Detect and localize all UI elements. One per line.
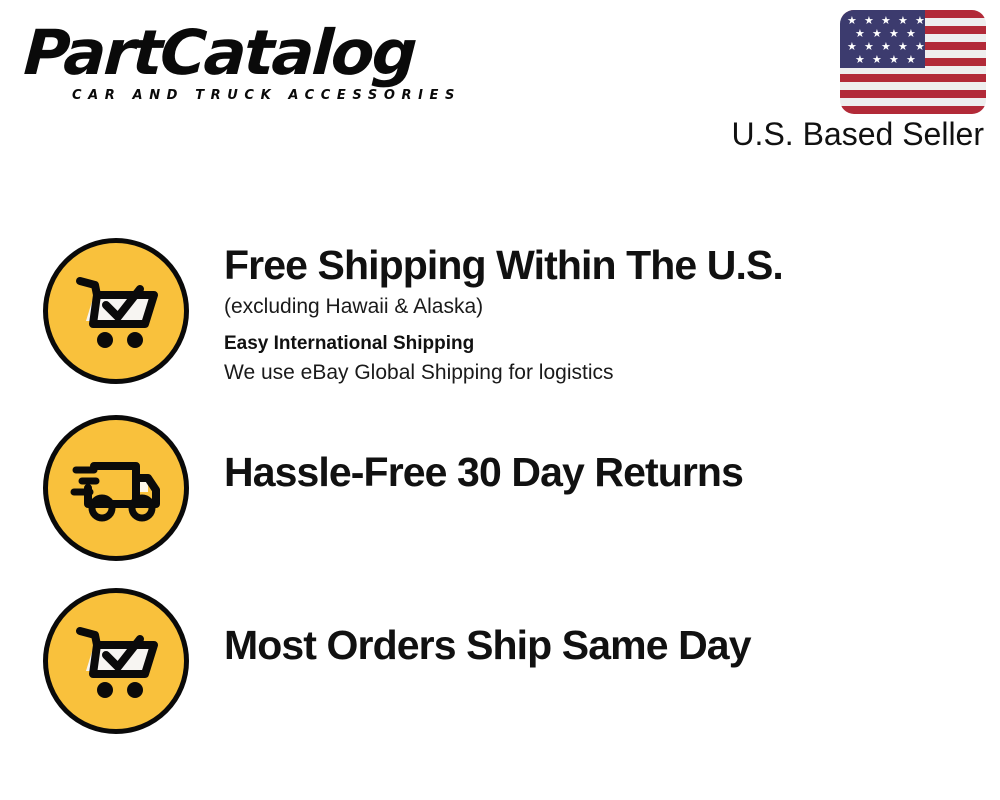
flag-canton: ★ ★ ★ ★ ★ ★ ★ ★ ★ ★ ★ ★ ★ ★ ★ ★ ★ ★ (840, 10, 925, 68)
feature-note: (excluding Hawaii & Alaska) (224, 292, 1000, 322)
feature-text: Free Shipping Within The U.S. (excluding… (224, 238, 1000, 387)
page-header: PartCatalog CAR AND TRUCK ACCESSORIES ★ … (0, 0, 1000, 175)
brand-tagline: CAR AND TRUCK ACCESSORIES (72, 88, 494, 103)
shopping-cart-check-icon (43, 238, 189, 384)
feature-subnote: We use eBay Global Shipping for logistic… (224, 359, 1000, 387)
brand-wordmark: PartCatalog (22, 20, 505, 86)
feature-subheading: Easy International Shipping (224, 330, 1000, 358)
feature-row: Free Shipping Within The U.S. (excluding… (0, 238, 1000, 410)
feature-text: Hassle-Free 30 Day Returns (224, 415, 1000, 495)
delivery-truck-icon (43, 415, 189, 561)
feature-row: Most Orders Ship Same Day (0, 588, 1000, 748)
feature-heading: Free Shipping Within The U.S. (224, 242, 1000, 288)
feature-heading: Hassle-Free 30 Day Returns (224, 449, 1000, 495)
us-flag-icon: ★ ★ ★ ★ ★ ★ ★ ★ ★ ★ ★ ★ ★ ★ ★ ★ ★ ★ (840, 10, 986, 114)
feature-heading: Most Orders Ship Same Day (224, 622, 1000, 668)
us-based-seller-badge: ★ ★ ★ ★ ★ ★ ★ ★ ★ ★ ★ ★ ★ ★ ★ ★ ★ ★ U.S.… (716, 10, 986, 152)
us-based-seller-label: U.S. Based Seller (731, 116, 984, 152)
feature-row: Hassle-Free 30 Day Returns (0, 415, 1000, 583)
shopping-cart-check-icon (43, 588, 189, 734)
feature-text: Most Orders Ship Same Day (224, 588, 1000, 668)
brand-logo[interactable]: PartCatalog CAR AND TRUCK ACCESSORIES (24, 20, 494, 115)
